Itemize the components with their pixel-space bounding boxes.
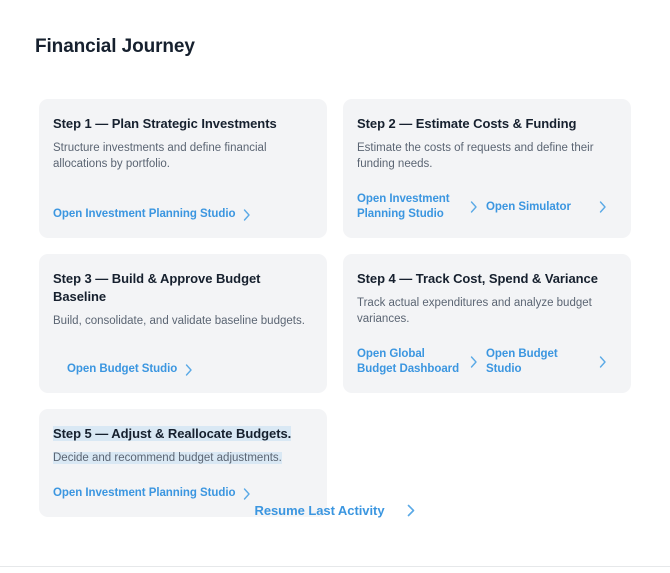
resume-last-activity-link[interactable]: Resume Last Activity <box>254 503 415 518</box>
card-links: Open Investment Planning Studio <box>53 187 311 222</box>
selected-text: Decide and recommend budget adjustments. <box>53 452 282 464</box>
selected-text: Step 5 — Adjust & Reallocate Budgets. <box>53 426 291 441</box>
card-action-link[interactable]: Open Budget Studio <box>486 347 615 377</box>
card-action-label: Open Investment Planning Studio <box>53 486 235 501</box>
card-action-link[interactable]: Open Investment Planning Studio <box>53 207 251 222</box>
journey-step-card[interactable]: Step 5 — Adjust & Reallocate Budgets.Dec… <box>39 409 327 517</box>
card-description: Decide and recommend budget adjustments. <box>53 450 311 466</box>
card-action-label: Open Investment Planning Studio <box>357 192 467 222</box>
financial-journey-page: Financial Journey Step 1 — Plan Strategi… <box>0 0 670 573</box>
card-title: Step 2 — Estimate Costs & Funding <box>357 115 615 133</box>
chevron-right-icon <box>243 209 251 221</box>
card-action-link[interactable]: Open Global Budget Dashboard <box>357 347 486 377</box>
card-links: Open Budget Studio <box>53 342 311 377</box>
card-action-link[interactable]: Open Simulator <box>486 192 615 222</box>
chevron-right-icon <box>470 356 478 368</box>
journey-steps-grid: Step 1 — Plan Strategic InvestmentsStruc… <box>39 99 632 517</box>
card-links: Open Investment Planning StudioOpen Simu… <box>357 172 615 222</box>
chevron-right-icon <box>599 356 607 368</box>
journey-step-card[interactable]: Step 2 — Estimate Costs & FundingEstimat… <box>343 99 631 238</box>
journey-step-card[interactable]: Step 4 — Track Cost, Spend & VarianceTra… <box>343 254 631 393</box>
card-action-label: Open Simulator <box>486 200 596 215</box>
card-action-label: Open Global Budget Dashboard <box>357 347 467 377</box>
resume-last-activity-label: Resume Last Activity <box>254 503 384 518</box>
card-action-link[interactable]: Open Investment Planning Studio <box>357 192 486 222</box>
card-description: Structure investments and define financi… <box>53 140 311 172</box>
chevron-right-icon <box>470 201 478 213</box>
journey-step-card[interactable]: Step 1 — Plan Strategic InvestmentsStruc… <box>39 99 327 238</box>
page-title: Financial Journey <box>35 35 195 59</box>
bottom-divider <box>0 566 670 567</box>
card-title: Step 4 — Track Cost, Spend & Variance <box>357 270 615 288</box>
card-description: Estimate the costs of requests and defin… <box>357 140 615 172</box>
card-description: Track actual expenditures and analyze bu… <box>357 295 615 327</box>
card-title: Step 3 — Build & Approve Budget Baseline <box>53 270 311 306</box>
card-action-label: Open Investment Planning Studio <box>53 207 235 222</box>
card-action-label: Open Budget Studio <box>67 362 177 377</box>
chevron-right-icon <box>185 364 193 376</box>
journey-step-card[interactable]: Step 3 — Build & Approve Budget Baseline… <box>39 254 327 393</box>
card-links: Open Global Budget DashboardOpen Budget … <box>357 327 615 377</box>
card-action-link[interactable]: Open Budget Studio <box>67 362 193 377</box>
resume-last-activity-row: Resume Last Activity <box>0 503 670 518</box>
card-action-label: Open Budget Studio <box>486 347 596 377</box>
chevron-right-icon <box>599 201 607 213</box>
card-action-link[interactable]: Open Investment Planning Studio <box>53 486 251 501</box>
card-links: Open Investment Planning Studio <box>53 466 311 501</box>
card-title: Step 1 — Plan Strategic Investments <box>53 115 311 133</box>
chevron-right-icon <box>243 488 251 500</box>
card-title: Step 5 — Adjust & Reallocate Budgets. <box>53 425 311 443</box>
chevron-right-icon <box>407 504 416 517</box>
card-description: Build, consolidate, and validate baselin… <box>53 313 311 329</box>
